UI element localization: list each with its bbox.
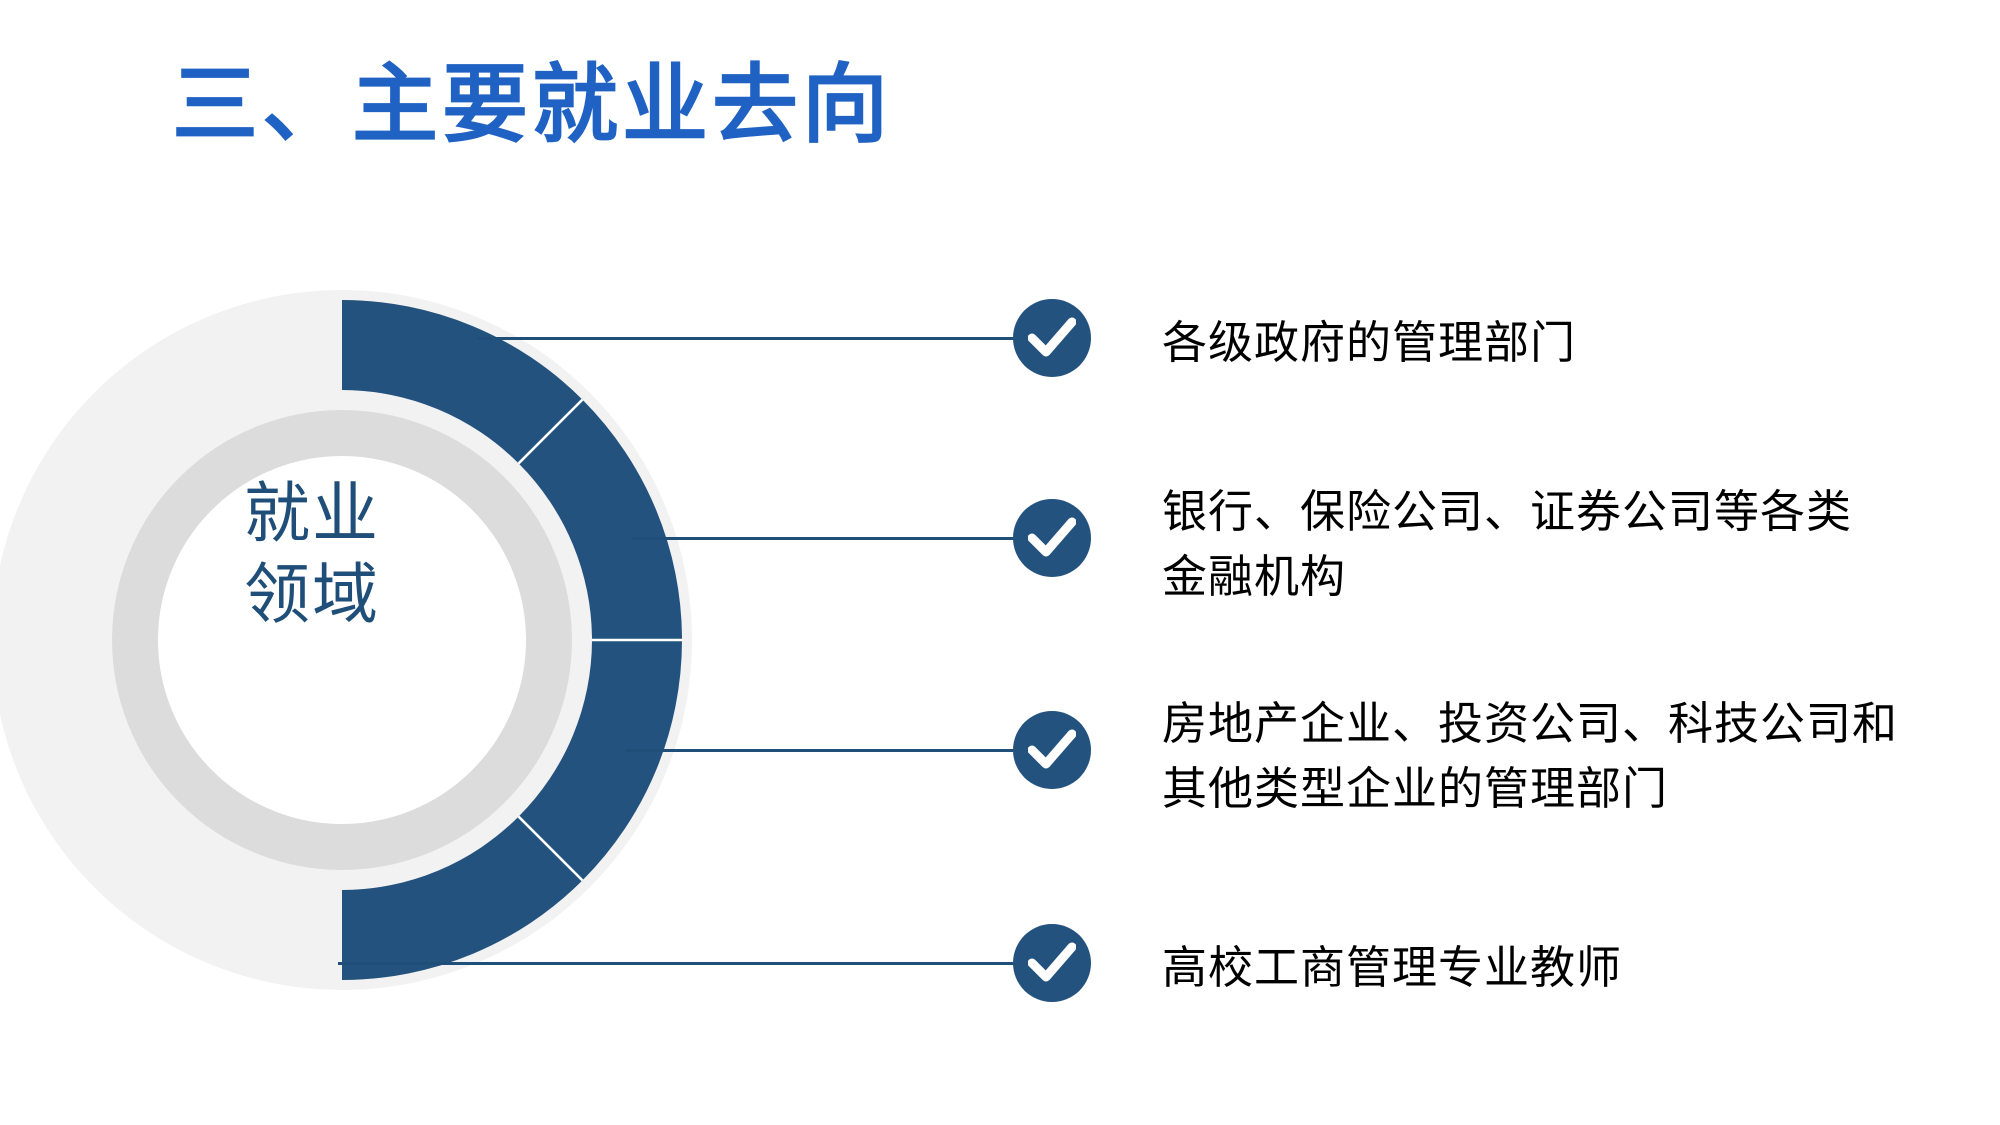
check-icon <box>1028 316 1076 360</box>
donut-inner-ring <box>135 433 549 847</box>
bullet-text-3-line-2: 其他类型企业的管理部门 <box>1162 757 1898 822</box>
connector-line-2 <box>632 537 1068 540</box>
bullet-text-2-line-1: 银行、保险公司、证券公司等各类 <box>1162 480 1852 545</box>
check-badge-1[interactable] <box>1013 299 1091 377</box>
check-icon <box>1028 516 1076 560</box>
bullet-text-1-line-1: 各级政府的管理部门 <box>1162 311 1576 376</box>
check-badge-2[interactable] <box>1013 499 1091 577</box>
donut-svg <box>0 290 692 990</box>
check-icon <box>1028 941 1076 985</box>
bullet-text-4-line-1: 高校工商管理专业教师 <box>1162 936 1622 1001</box>
check-badge-4[interactable] <box>1013 924 1091 1002</box>
slide-canvas: 三、主要就业去向 就业 领域 <box>0 0 2000 1125</box>
connector-line-3 <box>626 749 1068 752</box>
check-icon <box>1028 728 1076 772</box>
connector-line-1 <box>478 337 1068 340</box>
bullet-text-3-line-1: 房地产企业、投资公司、科技公司和 <box>1162 692 1898 757</box>
bullet-text-1: 各级政府的管理部门 <box>1162 311 1576 376</box>
bullet-text-3: 房地产企业、投资公司、科技公司和 其他类型企业的管理部门 <box>1162 692 1898 823</box>
employment-donut-chart: 就业 领域 <box>0 290 692 990</box>
bullet-text-2-line-2: 金融机构 <box>1162 545 1852 610</box>
bullet-text-4: 高校工商管理专业教师 <box>1162 936 1622 1001</box>
bullet-text-2: 银行、保险公司、证券公司等各类 金融机构 <box>1162 480 1852 611</box>
page-title: 三、主要就业去向 <box>172 58 892 153</box>
connector-line-4 <box>338 962 1068 965</box>
check-badge-3[interactable] <box>1013 711 1091 789</box>
